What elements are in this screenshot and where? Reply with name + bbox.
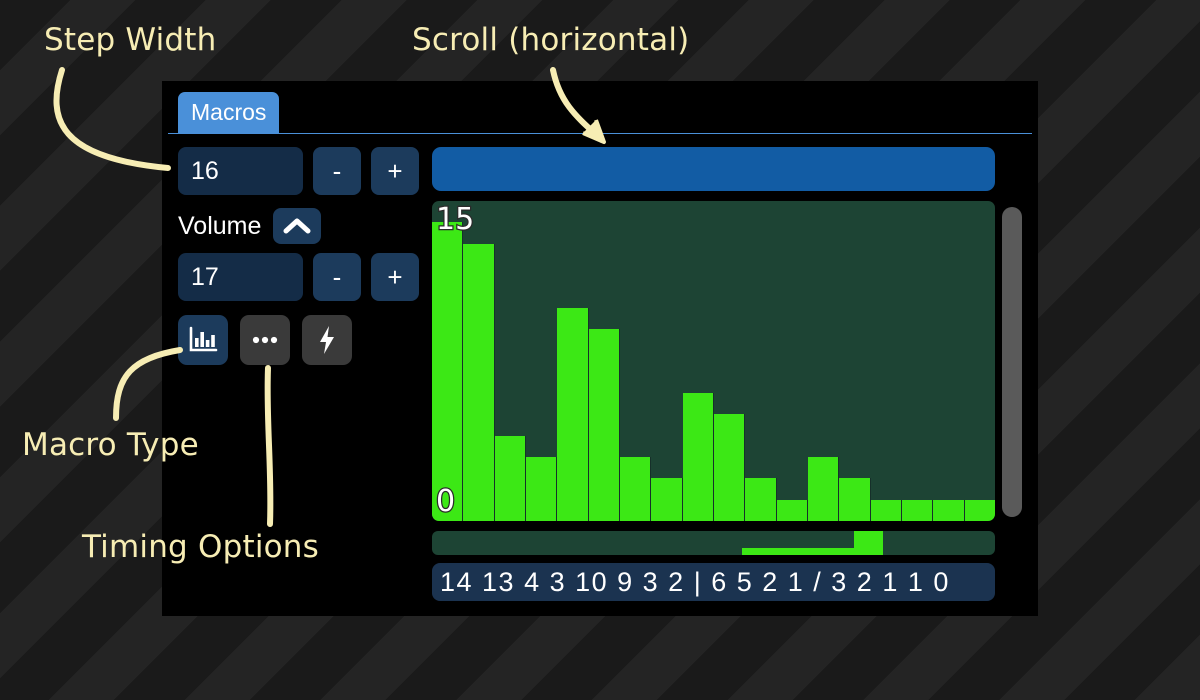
volume-decrement-button[interactable]: - (313, 253, 361, 301)
mini-strip-segment[interactable] (967, 531, 995, 555)
mini-strip-segment[interactable] (854, 531, 882, 555)
bar[interactable] (620, 457, 651, 521)
mini-strip-segment[interactable] (657, 531, 685, 555)
volume-header-row: Volume (178, 203, 430, 249)
volume-increment-button[interactable]: + (371, 253, 419, 301)
mini-strip-segment[interactable] (601, 531, 629, 555)
bar[interactable] (495, 436, 526, 521)
bar[interactable] (839, 478, 870, 521)
bar[interactable] (432, 222, 463, 521)
bar-chart-plot[interactable]: 15 0 (432, 201, 995, 521)
mini-strip-segment[interactable] (714, 531, 742, 555)
bar-series (432, 201, 995, 521)
mini-strip-segment[interactable] (460, 531, 488, 555)
bar[interactable] (651, 478, 682, 521)
chevron-up-icon (283, 217, 311, 235)
tab-bar: Macros (162, 81, 1038, 137)
mini-strip-segment[interactable] (911, 531, 939, 555)
bar[interactable] (745, 478, 776, 521)
icon-button-row (178, 315, 430, 365)
mini-strip-segment[interactable] (742, 531, 770, 555)
horizontal-scrollbar-thumb[interactable] (432, 147, 995, 191)
mini-strip-segment[interactable] (883, 531, 911, 555)
volume-collapse-button[interactable] (273, 208, 321, 244)
vertical-scrollbar-thumb[interactable] (1002, 207, 1022, 517)
step-width-row: 16 - + (178, 147, 430, 195)
mini-strip-segment[interactable] (629, 531, 657, 555)
chart-area: 15 0 (432, 201, 1022, 523)
bar[interactable] (777, 500, 808, 521)
trigger-button[interactable] (302, 315, 352, 365)
step-width-increment-button[interactable]: + (371, 147, 419, 195)
vertical-scrollbar-track[interactable] (1002, 207, 1022, 517)
annotation-label-scroll: Scroll (horizontal) (412, 22, 689, 58)
y-axis-min-label: 0 (436, 487, 455, 517)
mini-strip-fill (770, 548, 798, 555)
mini-overview-strip[interactable] (432, 531, 995, 555)
horizontal-scrollbar-track[interactable] (432, 147, 995, 191)
volume-label: Volume (178, 212, 261, 241)
y-axis-max-label: 15 (436, 205, 474, 235)
timing-options-button[interactable] (240, 315, 290, 365)
bar[interactable] (526, 457, 557, 521)
bar-chart-icon (188, 326, 218, 354)
mini-strip-segment[interactable] (798, 531, 826, 555)
mini-strip-fill (826, 548, 854, 555)
mini-strip-fill (854, 531, 882, 555)
mini-strip-segment[interactable] (545, 531, 573, 555)
bar[interactable] (808, 457, 839, 521)
volume-input[interactable]: 17 (178, 253, 303, 301)
bar[interactable] (557, 308, 588, 521)
mini-strip-segment[interactable] (488, 531, 516, 555)
chart-column: 15 0 14 13 4 3 10 9 3 2 | 6 5 2 1 / 3 2 … (432, 147, 1022, 601)
bar[interactable] (589, 329, 620, 521)
bar[interactable] (463, 244, 494, 521)
annotation-label-step-width: Step Width (44, 22, 217, 58)
value-sequence-row[interactable]: 14 13 4 3 10 9 3 2 | 6 5 2 1 / 3 2 1 1 0 (432, 563, 995, 601)
macro-type-button[interactable] (178, 315, 228, 365)
mini-strip-segment[interactable] (685, 531, 713, 555)
bar[interactable] (683, 393, 714, 521)
bar[interactable] (902, 500, 933, 521)
bar[interactable] (933, 500, 964, 521)
mini-strip-fill (798, 548, 826, 555)
mini-strip-fill (742, 548, 770, 555)
arrow-step-width (56, 70, 168, 168)
bar[interactable] (714, 414, 745, 521)
step-width-input[interactable]: 16 (178, 147, 303, 195)
mini-strip-segment[interactable] (826, 531, 854, 555)
mini-strip-segment[interactable] (432, 531, 460, 555)
step-width-decrement-button[interactable]: - (313, 147, 361, 195)
mini-strip-segment[interactable] (516, 531, 544, 555)
bar[interactable] (965, 500, 995, 521)
bar[interactable] (871, 500, 902, 521)
control-column: 16 - + Volume 17 - + (178, 147, 430, 365)
macros-panel: Macros 16 - + Volume 17 - + (162, 81, 1038, 616)
tab-underline (168, 133, 1032, 134)
volume-value-row: 17 - + (178, 253, 430, 301)
mini-strip-segment[interactable] (939, 531, 967, 555)
lightning-bolt-icon (317, 325, 337, 355)
mini-strip-segment[interactable] (770, 531, 798, 555)
ellipsis-icon (250, 335, 280, 345)
tab-macros[interactable]: Macros (178, 92, 279, 133)
mini-strip-segment[interactable] (573, 531, 601, 555)
